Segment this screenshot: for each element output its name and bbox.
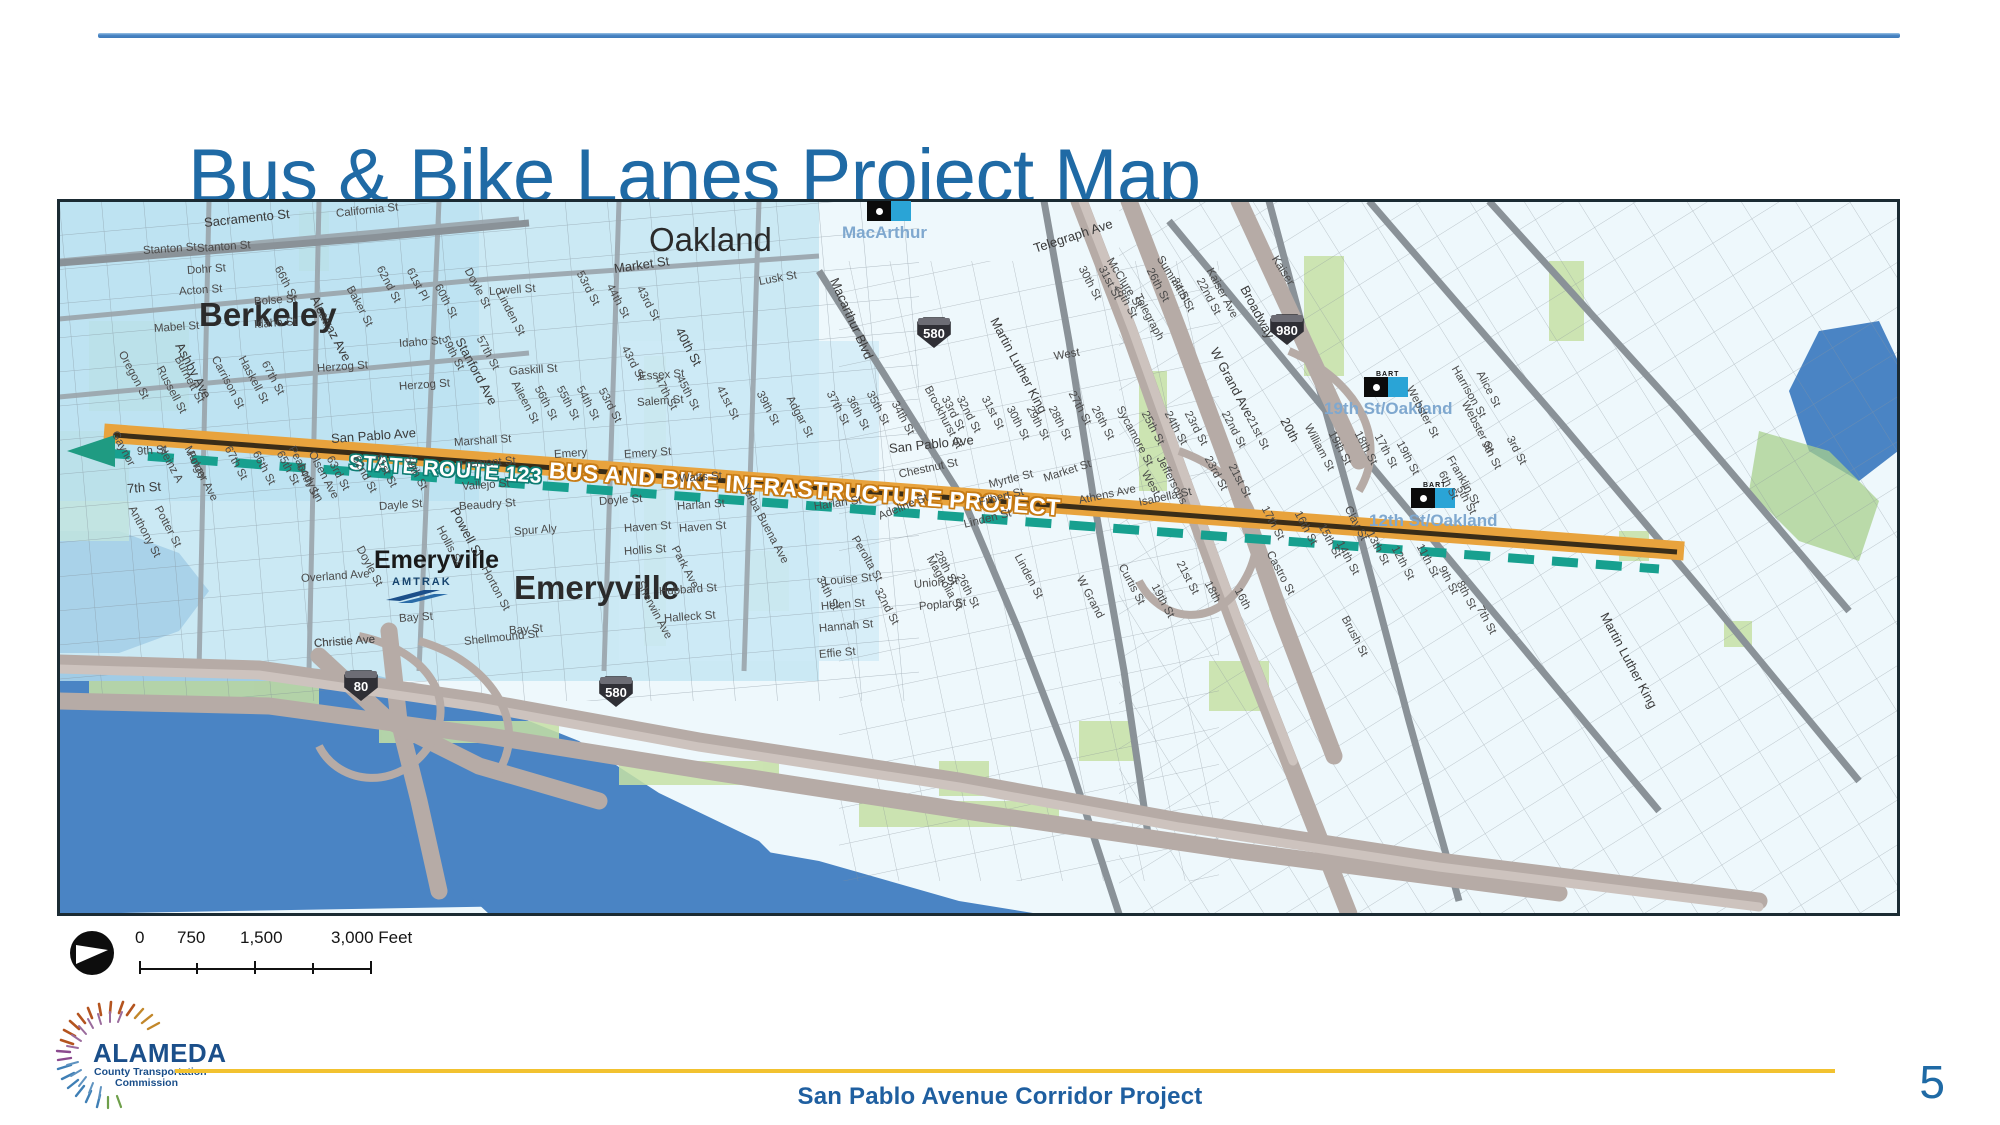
- shield-top-bar: [345, 671, 377, 678]
- bart-logo-dot: [1373, 384, 1380, 391]
- map-scale-bar: 0 750 1,500 3,000 Feet: [60, 928, 480, 988]
- scale-bar-tick-labels: 0 750 1,500 3,000 Feet: [135, 928, 475, 950]
- north-arrow-needle: [76, 945, 108, 964]
- bart-logo-macarthur: BART: [867, 199, 911, 221]
- shield-top-bar: [600, 677, 632, 684]
- shield-number: 980: [1267, 323, 1307, 338]
- footer-project-title: San Pablo Avenue Corridor Project: [0, 1083, 2000, 1111]
- scale-bar-ruler: [138, 960, 373, 974]
- bart-logo-dot: [876, 208, 883, 215]
- title-divider-rule: [98, 33, 1900, 38]
- footer-divider-rule: [175, 1069, 1835, 1073]
- bart-logo-blue-block: [1435, 488, 1455, 508]
- north-arrow-icon: [70, 931, 114, 975]
- scale-tick-0: 0: [135, 928, 144, 948]
- amtrak-wordmark: AMTRAK: [392, 576, 452, 588]
- scale-tick-1500: 1,500: [240, 928, 283, 948]
- alameda-logo-name: ALAMEDA: [93, 1038, 227, 1069]
- bart-logo-blue-block: [891, 201, 911, 221]
- highway-shield-580-south: 580: [596, 675, 636, 707]
- shield-number: 580: [914, 326, 954, 341]
- highway-shield-80: 80: [341, 669, 381, 701]
- page-number: 5: [1919, 1055, 1945, 1109]
- shield-top-bar: [1271, 315, 1303, 322]
- scale-tick-750: 750: [177, 928, 205, 948]
- shield-number: 580: [596, 685, 636, 700]
- highway-shield-980: 980: [1267, 313, 1307, 345]
- highway-shield-580-north: 580: [914, 316, 954, 348]
- bart-logo-dot: [1420, 495, 1427, 502]
- shield-number: 80: [341, 679, 381, 694]
- bart-logo-12th-st: BART: [1411, 482, 1455, 508]
- map-basemap: [59, 201, 1898, 914]
- bart-logo-blue-block: [1388, 377, 1408, 397]
- project-map[interactable]: Berkeley Oakland Emeryville Emeryville A…: [57, 199, 1900, 916]
- scale-tick-3000: 3,000 Feet: [331, 928, 412, 948]
- bart-logo-19th-st: BART: [1364, 371, 1408, 397]
- shield-top-bar: [918, 318, 950, 325]
- amtrak-logo: AMTRAK: [384, 576, 462, 602]
